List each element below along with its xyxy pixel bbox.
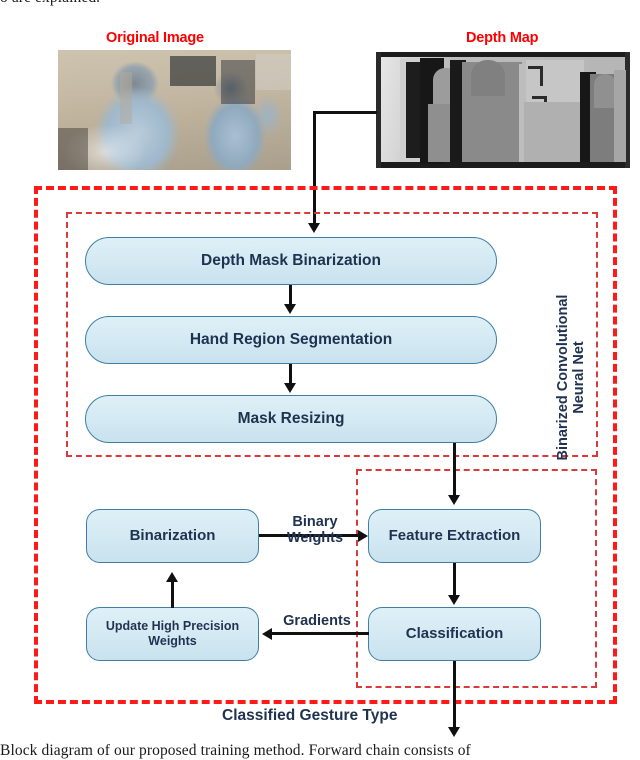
process-box-mask-resizing[interactable]: Mask Resizing [85,395,497,443]
arrowhead-depth-to-hand [284,304,296,314]
arrowhead-hand-to-resize [284,383,296,393]
process-box-feature-extraction[interactable]: Feature Extraction [368,509,541,563]
depth-map-caption: Depth Map [466,30,538,46]
process-box-binarization[interactable]: Binarization [86,509,259,563]
arrowhead-feature-to-classification [448,595,460,605]
connector-depthmap-horizontal [313,111,377,114]
connector-classification-to-update [271,632,369,635]
edge-label-gradients: Gradients [274,613,360,629]
connector-feature-to-classification [453,563,456,597]
process-box-depth-mask-binarization[interactable]: Depth Mask Binarization [85,237,497,285]
connector-depth-to-hand [289,285,292,306]
original-image-photo [58,50,291,170]
arrowhead-resize-to-feature [448,495,460,505]
arrowhead-output [448,727,460,737]
original-image-caption: Original Image [106,30,204,46]
connector-classification-to-output [453,661,456,730]
arrowhead-gradients [262,628,272,640]
process-box-update-high-precision-weights[interactable]: Update High Precision Weights [86,607,259,661]
depth-map-photo [376,52,630,168]
page-top-cut-text: o are explained. [0,0,100,7]
edge-label-binary-weights: Binary Weights [269,514,361,546]
process-box-classification[interactable]: Classification [368,607,541,661]
connector-hand-to-resize [289,364,292,385]
page-bottom-caption: Block diagram of our proposed training m… [0,742,471,760]
output-label-classified-gesture-type: Classified Gesture Type [222,707,397,725]
arrowhead-update-to-binarization [166,572,178,582]
process-box-hand-region-segmentation[interactable]: Hand Region Segmentation [85,316,497,364]
connector-update-to-binarization [171,580,174,608]
connector-resize-to-feature [453,443,456,497]
bnn-group-label: Binarized Convolutional Neural Net [555,275,587,480]
